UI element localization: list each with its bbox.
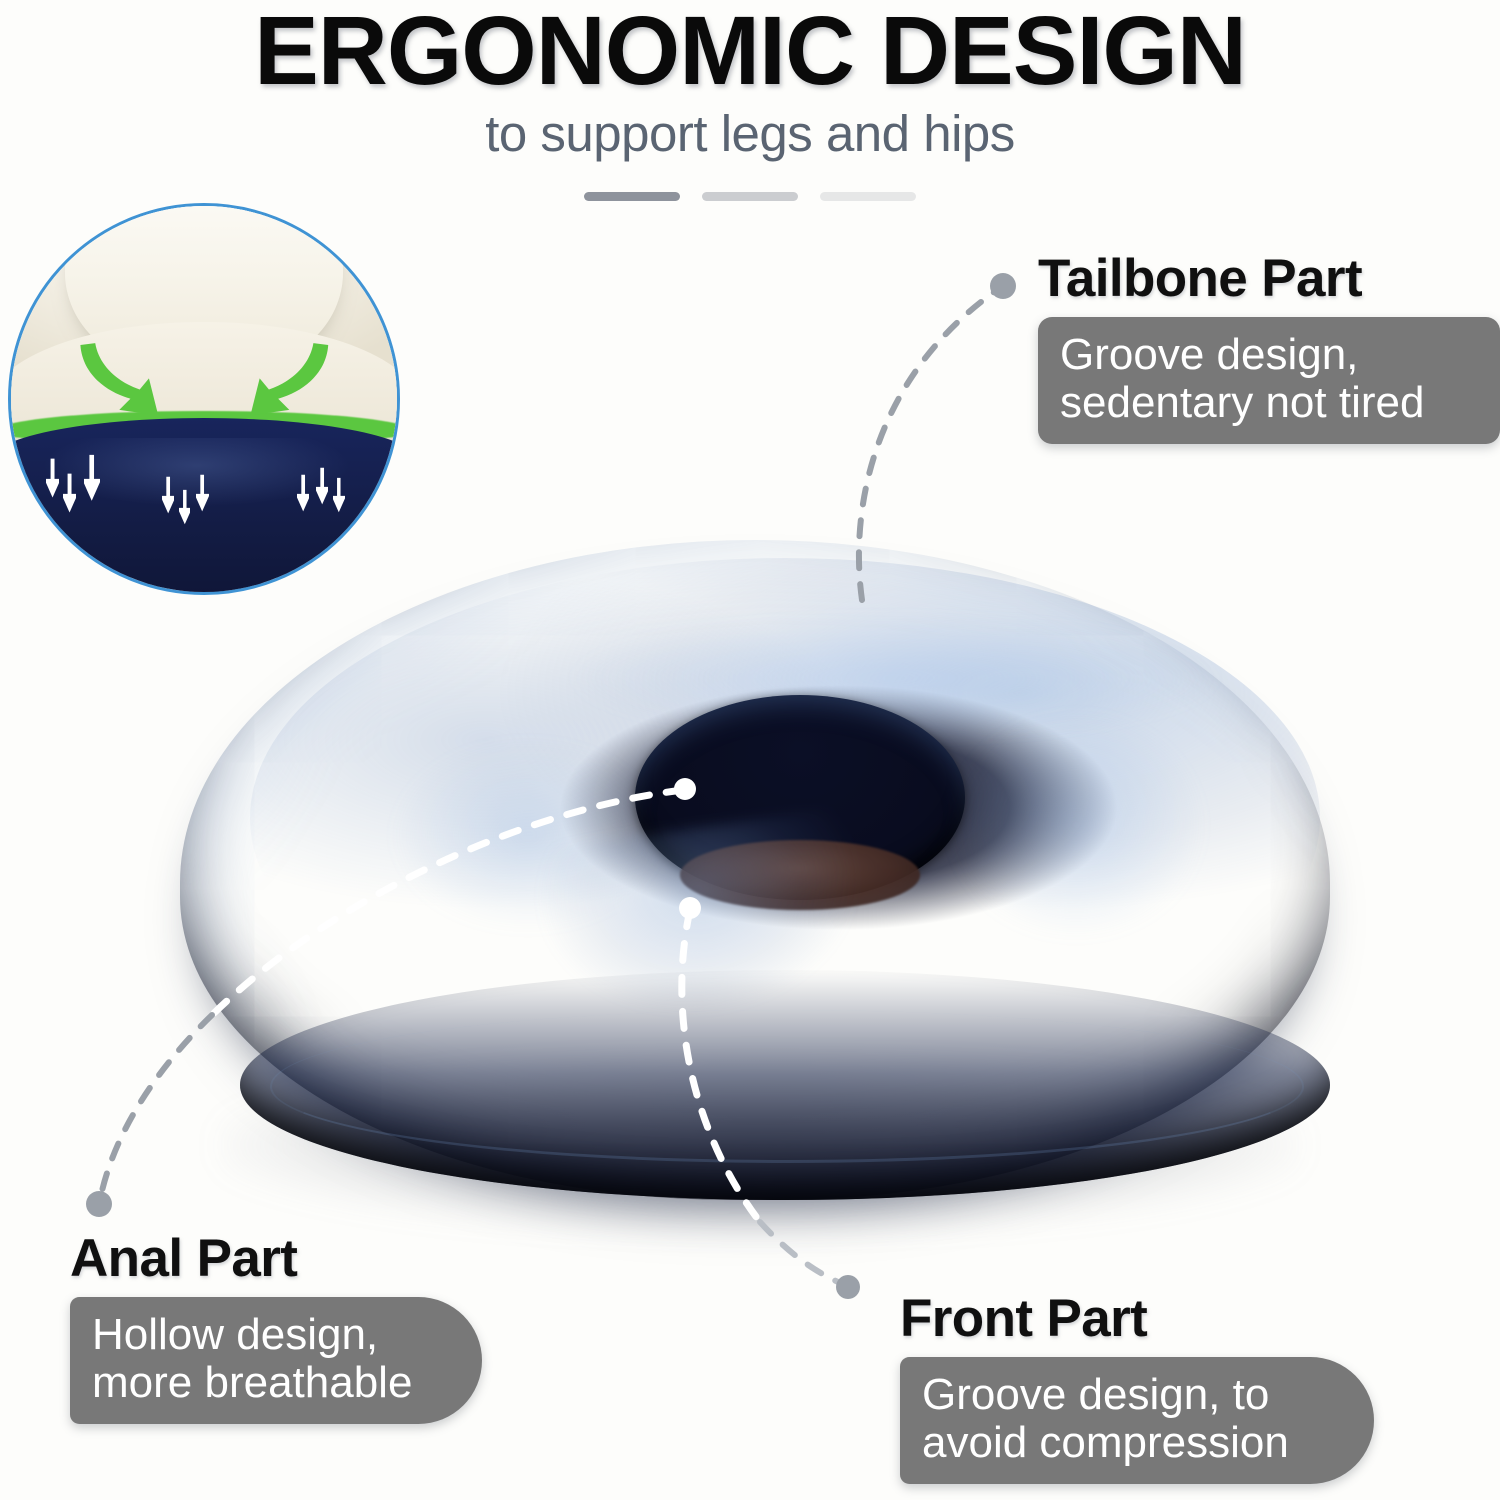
- dash-mark-1: [584, 192, 680, 201]
- white-down-arrow-icon: [316, 465, 328, 507]
- dash-mark-2: [702, 192, 798, 201]
- white-down-arrow-icon: [46, 457, 59, 499]
- callout-tailbone-title: Tailbone Part: [1038, 248, 1500, 309]
- white-down-arrow-icon: [84, 453, 99, 503]
- leader-dot-anal: [86, 1191, 112, 1217]
- callout-tailbone-description: Groove design, sedentary not tired: [1038, 317, 1500, 444]
- product-infographic: ERGONOMIC DESIGN to support legs and hip…: [0, 0, 1500, 1500]
- cushion-body: [180, 540, 1330, 1200]
- cushion-base-seam: [270, 1010, 1304, 1163]
- callout-tailbone[interactable]: Tailbone Part Groove design, sedentary n…: [1038, 248, 1500, 444]
- leader-dot-front: [836, 1275, 860, 1299]
- decorative-dash-row: [0, 192, 1500, 201]
- white-down-arrow-icon: [63, 472, 76, 514]
- callout-anal-title: Anal Part: [70, 1228, 482, 1289]
- white-down-arrow-icon: [196, 472, 208, 514]
- white-down-arrow-icon: [162, 476, 174, 515]
- callout-front-description: Groove design, to avoid compression: [900, 1357, 1374, 1484]
- callout-front[interactable]: Front Part Groove design, to avoid compr…: [900, 1288, 1374, 1484]
- white-down-arrow-icon: [297, 472, 309, 514]
- white-down-arrow-icon: [333, 476, 345, 515]
- dash-mark-3: [820, 192, 916, 201]
- page-title: ERGONOMIC DESIGN: [0, 2, 1500, 101]
- callout-anal-description: Hollow design, more breathable: [70, 1297, 482, 1424]
- product-image: [150, 520, 1360, 1240]
- green-arrow-left-icon: [73, 322, 166, 453]
- page-subtitle: to support legs and hips: [0, 104, 1500, 163]
- leader-dot-tailbone: [990, 273, 1016, 299]
- green-arrow-right-icon: [243, 322, 336, 453]
- callout-front-title: Front Part: [900, 1288, 1374, 1349]
- callout-anal[interactable]: Anal Part Hollow design, more breathable: [70, 1228, 482, 1424]
